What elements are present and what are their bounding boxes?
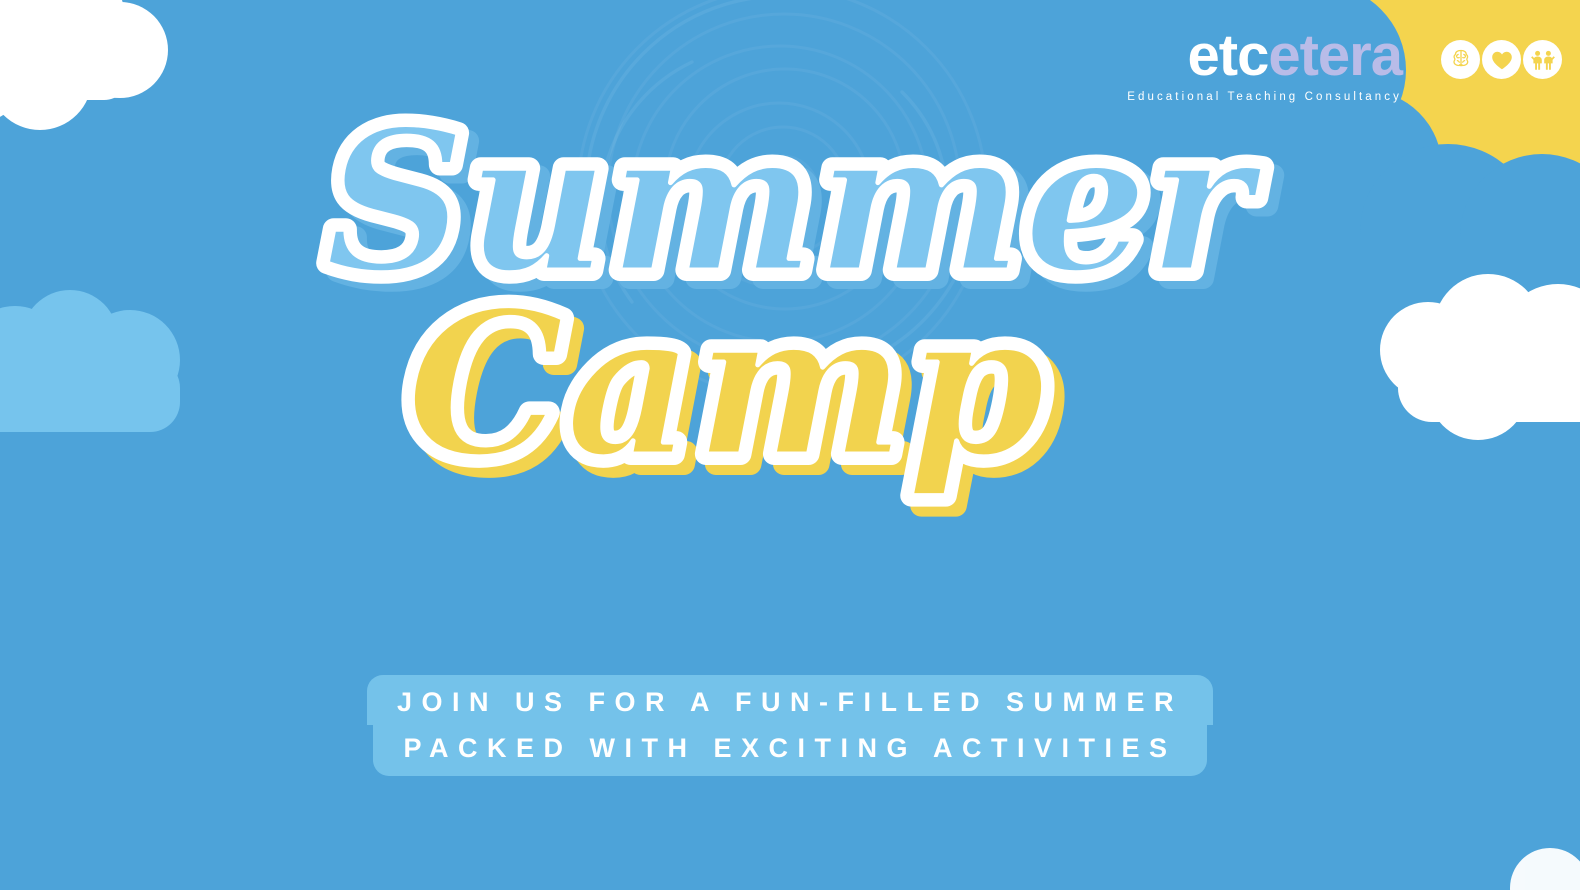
tagline-line-1: JOIN US FOR A FUN-FILLED SUMMER xyxy=(367,675,1213,725)
headline-line-camp: .hl-txt2 { font-family:"DejaVu Serif", s… xyxy=(0,302,1580,502)
tagline-line-2: PACKED WITH EXCITING ACTIVITIES xyxy=(373,725,1206,776)
headline-group: .hl-txt { font-family:"DejaVu Serif", se… xyxy=(0,120,1580,502)
brain-icon xyxy=(1441,40,1480,79)
cloud-top-left xyxy=(0,0,200,150)
headline-camp-outline: Camp xyxy=(406,267,1046,502)
cloud-left-middle xyxy=(0,282,230,432)
brand-wordmark-part-1: etc xyxy=(1188,23,1269,88)
headline-line-summer: .hl-txt { font-family:"DejaVu Serif", se… xyxy=(0,120,1580,310)
cloud-right-middle xyxy=(1368,272,1580,442)
children-icon xyxy=(1523,40,1562,79)
brand-logo[interactable]: etcetera Educational Teaching Consultanc… xyxy=(1127,28,1402,103)
headline-summer-outline: Summer xyxy=(325,87,1265,317)
cloud-bottom-right xyxy=(1500,840,1580,890)
spiral-watermark-decoration xyxy=(572,0,992,402)
headline-camp-shadow: Camp xyxy=(416,277,1056,512)
headline-summer-shadow: Summer xyxy=(335,95,1275,325)
brand-wordmark-part-2: etera xyxy=(1268,23,1402,88)
brand-badge-group xyxy=(1441,40,1562,79)
headline-camp-fill: Camp xyxy=(406,267,1046,502)
summer-camp-poster: etcetera Educational Teaching Consultanc… xyxy=(0,0,1580,890)
brand-tagline: Educational Teaching Consultancy xyxy=(1127,91,1402,103)
brand-wordmark: etcetera xyxy=(1127,28,1402,84)
headline-summer-fill: Summer xyxy=(325,87,1265,317)
heart-icon xyxy=(1482,40,1521,79)
tagline-group: JOIN US FOR A FUN-FILLED SUMMER PACKED W… xyxy=(0,675,1580,776)
